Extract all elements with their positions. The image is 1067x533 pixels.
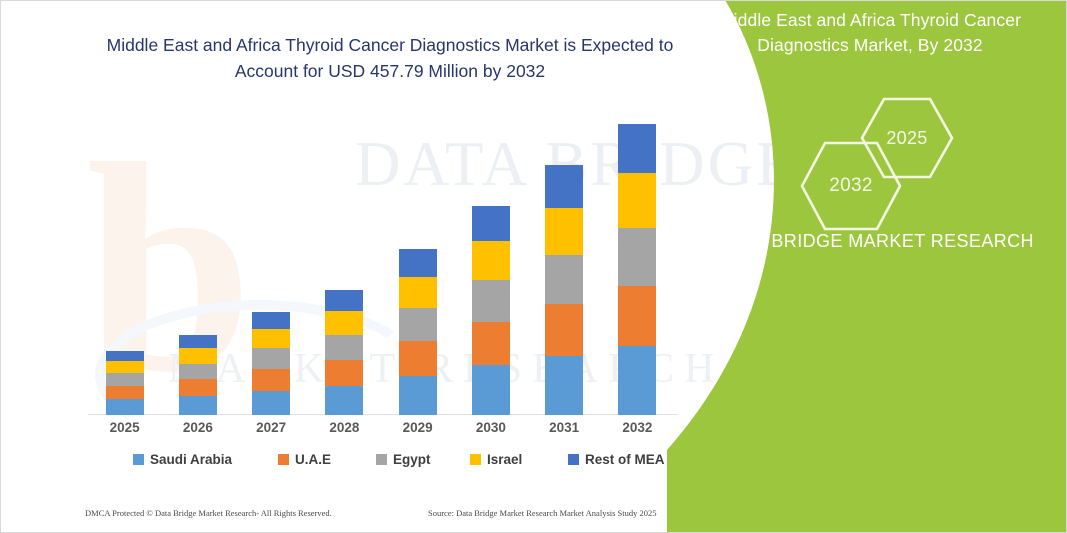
footer-copyright: DMCA Protected © Data Bridge Market Rese… xyxy=(85,508,332,518)
brand-panel-content: Middle East and Africa Thyroid Cancer Di… xyxy=(667,0,1067,533)
legend-label: U.A.E xyxy=(295,452,331,467)
bar-segment[interactable] xyxy=(545,208,583,255)
bar-segment[interactable] xyxy=(106,386,144,399)
bar-column-2030[interactable] xyxy=(472,206,510,415)
bar-segment[interactable] xyxy=(252,312,290,329)
bar-segment[interactable] xyxy=(545,304,583,355)
bar-segment[interactable] xyxy=(325,290,363,311)
legend-label: Israel xyxy=(487,452,522,467)
legend-swatch xyxy=(470,454,481,465)
bar-segment[interactable] xyxy=(618,124,656,173)
bar-segment[interactable] xyxy=(325,386,363,415)
bar-segment[interactable] xyxy=(545,165,583,208)
bar-segment[interactable] xyxy=(472,206,510,241)
bar-segment[interactable] xyxy=(106,373,144,386)
bar-column-2032[interactable] xyxy=(618,124,656,415)
bar-column-2029[interactable] xyxy=(399,249,437,415)
bar-segment[interactable] xyxy=(106,361,144,373)
legend-label: Egypt xyxy=(393,452,431,467)
legend-swatch xyxy=(278,454,289,465)
x-tick-2031: 2031 xyxy=(529,420,599,435)
chart-page: b DATA BRIDGE MARKET RESEARCH Middle Eas… xyxy=(0,0,1067,533)
bar-segment[interactable] xyxy=(618,228,656,286)
bar-segment[interactable] xyxy=(179,348,217,363)
bar-segment[interactable] xyxy=(472,241,510,280)
footer: DMCA Protected © Data Bridge Market Rese… xyxy=(0,505,706,527)
x-tick-2032: 2032 xyxy=(602,420,672,435)
bar-segment[interactable] xyxy=(179,379,217,396)
hexagon-label-2025: 2025 xyxy=(859,96,955,180)
brand-panel-title: Middle East and Africa Thyroid Cancer Di… xyxy=(695,8,1045,59)
footer-source: Source: Data Bridge Market Research Mark… xyxy=(428,508,657,518)
legend-label: Saudi Arabia xyxy=(150,452,232,467)
plot-area xyxy=(88,110,674,415)
legend-swatch xyxy=(133,454,144,465)
bar-column-2028[interactable] xyxy=(325,290,363,415)
x-tick-2029: 2029 xyxy=(383,420,453,435)
bar-segment[interactable] xyxy=(106,399,144,415)
x-axis-labels: 20252026202720282029203020312032 xyxy=(88,420,674,444)
bar-column-2027[interactable] xyxy=(252,312,290,415)
x-tick-2030: 2030 xyxy=(456,420,526,435)
brand-name: DATA BRIDGE MARKET RESEARCH xyxy=(707,228,1047,255)
bar-segment[interactable] xyxy=(545,356,583,415)
bar-segment[interactable] xyxy=(325,360,363,386)
legend-label: Rest of MEA xyxy=(585,452,665,467)
legend-item-u-a-e[interactable]: U.A.E xyxy=(278,452,331,467)
x-tick-2025: 2025 xyxy=(90,420,160,435)
bar-segment[interactable] xyxy=(472,322,510,365)
bar-segment[interactable] xyxy=(252,329,290,349)
bar-segment[interactable] xyxy=(325,311,363,335)
x-tick-2028: 2028 xyxy=(309,420,379,435)
bar-segment[interactable] xyxy=(179,335,217,348)
legend-item-rest-of-mea[interactable]: Rest of MEA xyxy=(568,452,665,467)
bar-segment[interactable] xyxy=(399,277,437,308)
bar-column-2026[interactable] xyxy=(179,335,217,415)
x-tick-2026: 2026 xyxy=(163,420,233,435)
bar-segment[interactable] xyxy=(179,364,217,380)
bar-segment[interactable] xyxy=(472,280,510,322)
bar-segment[interactable] xyxy=(618,286,656,346)
bar-segment[interactable] xyxy=(179,396,217,415)
bar-segment[interactable] xyxy=(545,255,583,305)
bar-segment[interactable] xyxy=(399,376,437,415)
chart-title: Middle East and Africa Thyroid Cancer Di… xyxy=(78,32,702,85)
bar-segment[interactable] xyxy=(252,348,290,369)
bar-segment[interactable] xyxy=(399,249,437,278)
bar-segment[interactable] xyxy=(472,365,510,415)
legend-swatch xyxy=(376,454,387,465)
bar-segment[interactable] xyxy=(325,335,363,360)
bar-segment[interactable] xyxy=(252,391,290,415)
bar-column-2031[interactable] xyxy=(545,165,583,415)
legend-item-egypt[interactable]: Egypt xyxy=(376,452,431,467)
chart-legend: Saudi ArabiaU.A.EEgyptIsraelRest of MEA xyxy=(88,452,688,478)
legend-swatch xyxy=(568,454,579,465)
bar-segment[interactable] xyxy=(252,369,290,391)
hexagon-badge-2025: 2025 xyxy=(859,96,955,180)
legend-item-israel[interactable]: Israel xyxy=(470,452,522,467)
bar-segment[interactable] xyxy=(399,341,437,375)
bar-column-2025[interactable] xyxy=(106,351,144,415)
bar-segment[interactable] xyxy=(399,308,437,341)
x-tick-2027: 2027 xyxy=(236,420,306,435)
bar-segment[interactable] xyxy=(618,173,656,228)
bar-segment[interactable] xyxy=(106,351,144,361)
legend-item-saudi-arabia[interactable]: Saudi Arabia xyxy=(133,452,232,467)
bar-segment[interactable] xyxy=(618,346,656,415)
